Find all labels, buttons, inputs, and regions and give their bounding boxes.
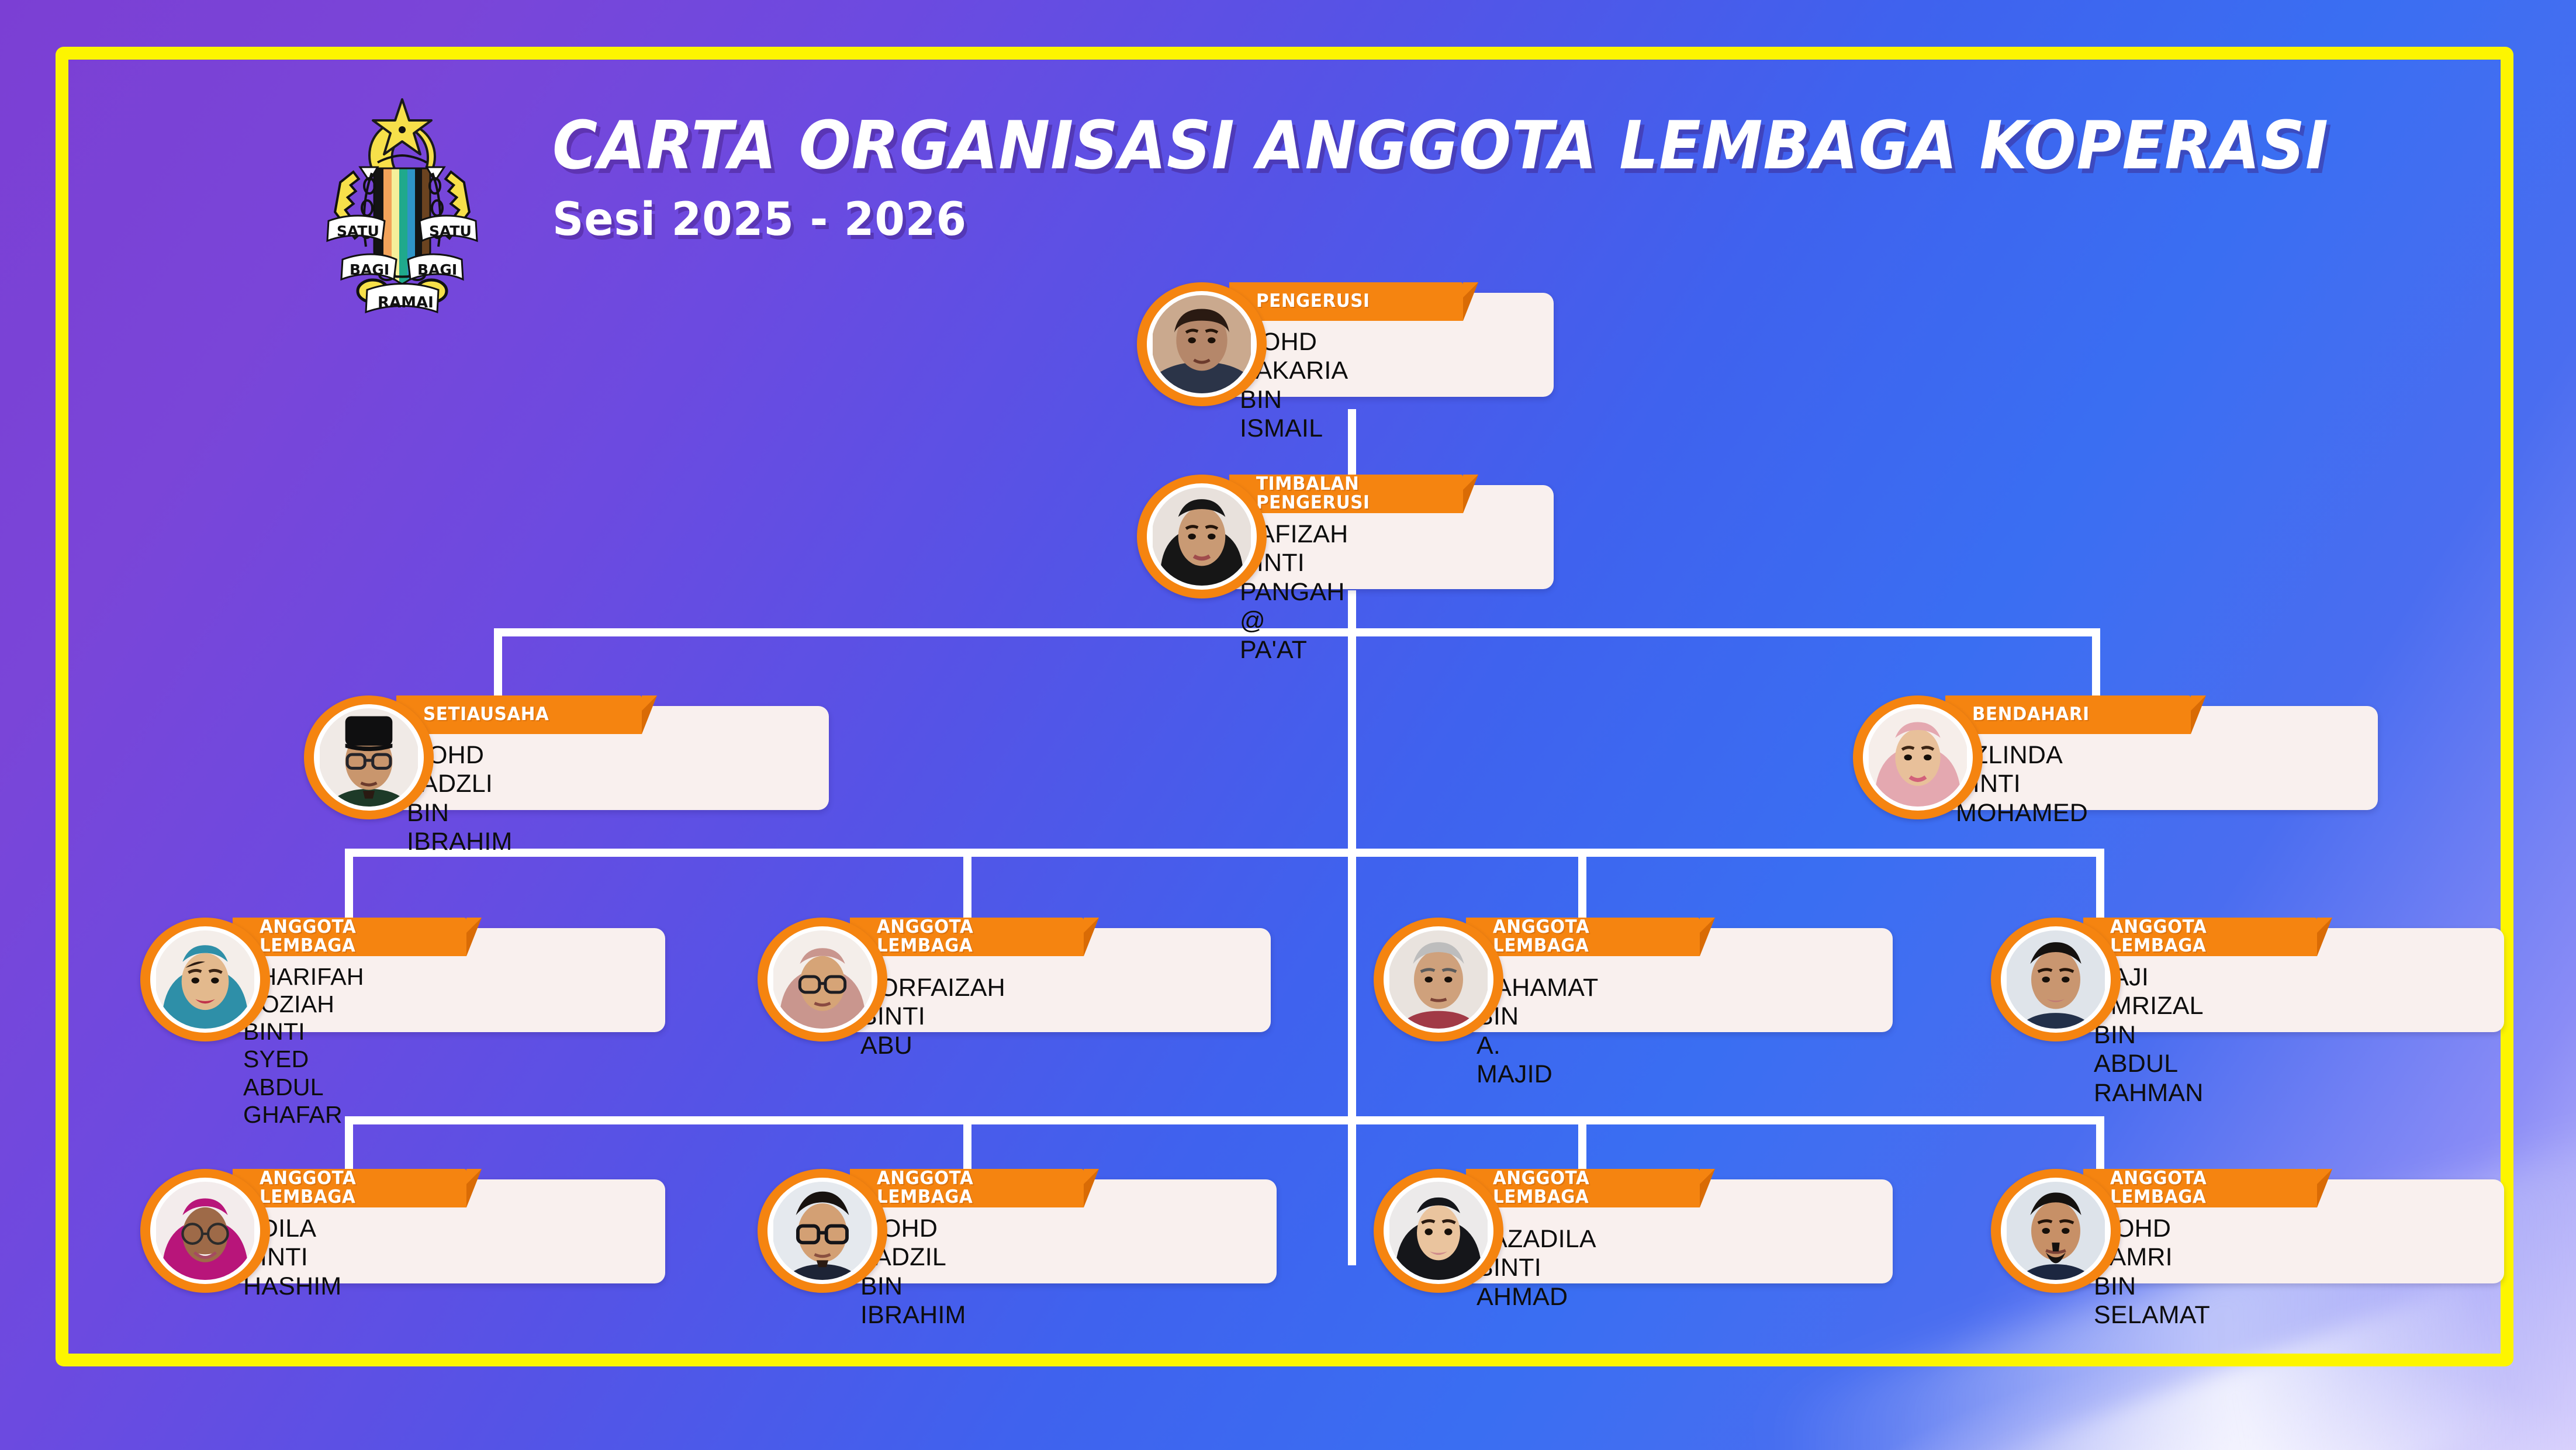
connector-n2-stem <box>1348 590 1356 632</box>
avatar-ring <box>767 1178 877 1284</box>
connector-bus-level5 <box>345 1116 2104 1124</box>
node-role-label: ANGGOTA LEMBAGA <box>260 918 434 955</box>
connector-bus-level4 <box>345 849 2104 857</box>
avatar-ring <box>2001 1178 2111 1284</box>
page-subtitle: Sesi 2025 - 2026 <box>552 193 2367 246</box>
avatar[interactable] <box>1374 918 1503 1041</box>
node-role-ribbon: ANGGOTA LEMBAGA <box>1466 918 1700 956</box>
avatar-photo <box>1152 487 1252 586</box>
node-role-ribbon: ANGGOTA LEMBAGA <box>233 918 466 956</box>
avatar-photo <box>772 930 873 1029</box>
node-role-label: ANGGOTA LEMBAGA <box>260 1169 434 1206</box>
avatar-photo <box>772 1182 873 1280</box>
avatar[interactable] <box>1374 1169 1503 1293</box>
avatar-photo <box>1388 1182 1489 1280</box>
avatar-ring <box>314 704 424 811</box>
avatar-ring <box>1384 1178 1493 1284</box>
avatar-photo <box>2006 930 2106 1029</box>
node-role-label: BENDAHARI <box>1972 705 2090 724</box>
node-role-ribbon: ANGGOTA LEMBAGA <box>2083 918 2317 956</box>
avatar[interactable] <box>758 1169 887 1293</box>
avatar[interactable] <box>140 918 270 1041</box>
node-role-label: ANGGOTA LEMBAGA <box>2110 1169 2284 1206</box>
node-role-label: ANGGOTA LEMBAGA <box>877 1169 1051 1206</box>
page-title: CARTA ORGANISASI ANGGOTA LEMBAGA KOPERAS… <box>552 111 2329 181</box>
avatar-photo <box>1868 708 1968 807</box>
connector-center-spine <box>1348 628 1356 1265</box>
node-role-ribbon: BENDAHARI <box>1945 695 2191 734</box>
poster-header: SATU SATU BAGI BAGI RAMAI CARTA ORGANISA… <box>0 88 2576 298</box>
node-role-ribbon: ANGGOTA LEMBAGA <box>850 1169 1084 1207</box>
avatar-photo <box>155 1182 255 1280</box>
connector-drop-n6 <box>963 849 971 925</box>
avatar-photo <box>1152 295 1252 393</box>
node-role-label: SETIAUSAHA <box>423 705 549 724</box>
node-role-ribbon: SETIAUSAHA <box>396 695 642 734</box>
connector-n1-n2 <box>1348 409 1356 479</box>
org-chart-poster: SATU SATU BAGI BAGI RAMAI CARTA ORGANISA… <box>0 0 2576 1450</box>
connector-bus-level3 <box>494 628 2100 636</box>
avatar[interactable] <box>1991 918 2121 1041</box>
node-role-ribbon: ANGGOTA LEMBAGA <box>2083 1169 2317 1207</box>
node-role-ribbon: ANGGOTA LEMBAGA <box>850 918 1084 956</box>
avatar-ring <box>1147 483 1257 590</box>
avatar-ring <box>1863 704 1973 811</box>
avatar-ring <box>2001 926 2111 1033</box>
node-role-label: TIMBALAN PENGERUSI <box>1256 475 1370 512</box>
logo-motto-bottom: RAMAI <box>378 294 434 312</box>
avatar-photo <box>1388 930 1489 1029</box>
avatar[interactable] <box>1137 282 1267 406</box>
avatar-photo <box>155 930 255 1029</box>
avatar[interactable] <box>1991 1169 2121 1293</box>
avatar-ring <box>150 1178 260 1284</box>
logo-motto-right-top: SATU <box>429 223 472 240</box>
avatar[interactable] <box>1853 695 1983 819</box>
koperasi-emblem-logo: SATU SATU BAGI BAGI RAMAI <box>309 94 496 321</box>
connector-drop-n7 <box>1578 849 1586 925</box>
avatar-photo <box>319 708 419 807</box>
node-role-label: ANGGOTA LEMBAGA <box>877 918 1051 955</box>
node-role-label: ANGGOTA LEMBAGA <box>2110 918 2284 955</box>
connector-drop-n5 <box>345 849 353 925</box>
avatar-photo <box>2006 1182 2106 1280</box>
logo-motto-left-bottom: BAGI <box>350 261 389 278</box>
node-role-ribbon: TIMBALAN PENGERUSI <box>1229 475 1463 513</box>
node-role-label: ANGGOTA LEMBAGA <box>1493 1169 1667 1206</box>
avatar-ring <box>1384 926 1493 1033</box>
logo-motto-left-top: SATU <box>337 223 379 240</box>
connector-drop-n8 <box>2096 849 2104 925</box>
logo-motto-right-bottom: BAGI <box>417 261 457 278</box>
avatar-ring <box>150 926 260 1033</box>
title-block: CARTA ORGANISASI ANGGOTA LEMBAGA KOPERAS… <box>552 111 2463 246</box>
avatar[interactable] <box>140 1169 270 1293</box>
avatar[interactable] <box>304 695 434 819</box>
avatar-ring <box>767 926 877 1033</box>
node-role-ribbon: ANGGOTA LEMBAGA <box>1466 1169 1700 1207</box>
avatar-ring <box>1147 291 1257 397</box>
node-role-label: ANGGOTA LEMBAGA <box>1493 918 1667 955</box>
node-role-ribbon: ANGGOTA LEMBAGA <box>233 1169 466 1207</box>
avatar[interactable] <box>758 918 887 1041</box>
avatar[interactable] <box>1137 475 1267 598</box>
